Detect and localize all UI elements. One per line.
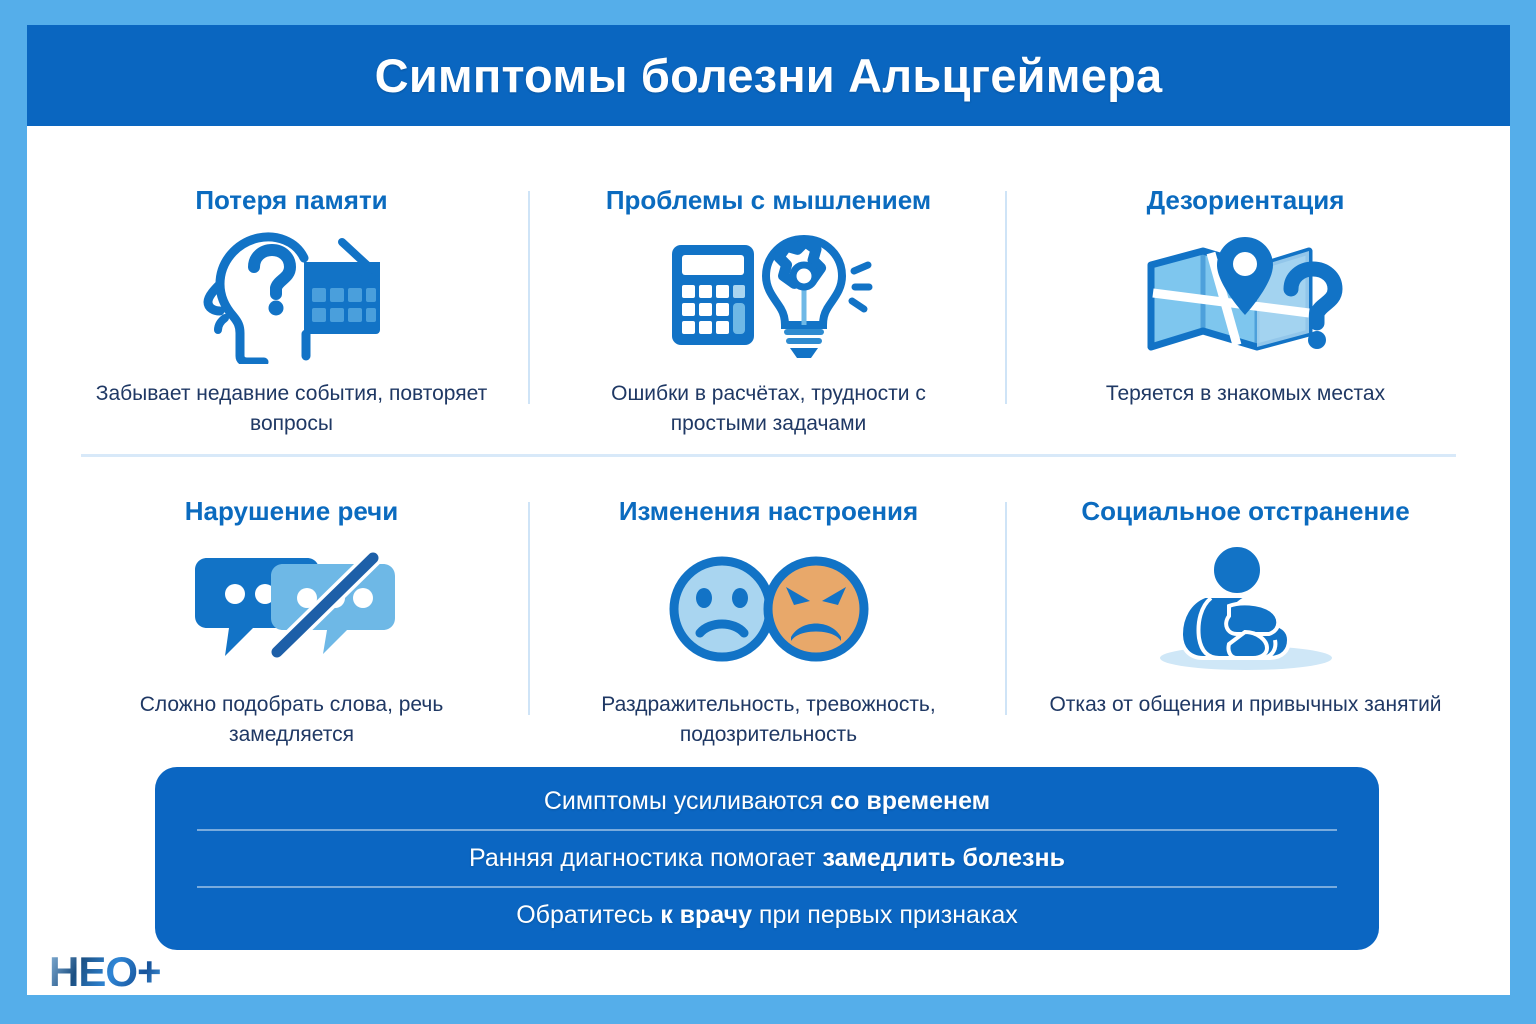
- symptom-card-social-withdrawal: Социальное отстранение Отказ от общения …: [1007, 454, 1484, 765]
- footer-line-1-bold: со временем: [830, 787, 990, 815]
- content-sheet: Симптомы болезни Альцгеймера Потеря памя…: [27, 25, 1510, 995]
- symptom-card-memory-loss: Потеря памяти: [53, 143, 530, 454]
- symptom-card-mood-changes: Изменения настроения Раздражительно: [530, 454, 1007, 765]
- card-description: Сложно подобрать слова, речь замедляется: [92, 690, 492, 751]
- symptom-grid: Потеря памяти: [53, 143, 1484, 765]
- card-description: Забывает недавние события, повторяет воп…: [92, 379, 492, 440]
- card-description: Отказ от общения и привычных занятий: [1049, 690, 1441, 720]
- page-title: Симптомы болезни Альцгеймера: [375, 48, 1163, 103]
- footer-line-3-plain: Обратитесь: [516, 901, 660, 929]
- card-description: Теряется в знакомых местах: [1106, 379, 1385, 409]
- footer-line-3-tail: при первых признаках: [752, 901, 1018, 929]
- infographic-poster: Симптомы болезни Альцгеймера Потеря памя…: [0, 0, 1536, 1024]
- map-pin-question-icon: [1141, 230, 1351, 365]
- header-bar: Симптомы болезни Альцгеймера: [27, 25, 1510, 126]
- footer-line-3-bold: к врачу: [660, 901, 752, 929]
- footer-line-1-plain: Симптомы усиливаются: [544, 787, 830, 815]
- card-title: Дезориентация: [1147, 185, 1345, 216]
- card-title: Изменения настроения: [619, 496, 918, 527]
- calculator-lightbulb-gear-icon: [664, 230, 874, 365]
- head-question-calendar-icon: [192, 230, 392, 365]
- key-message-panel: Симптомы усиливаются со временем Ранняя …: [155, 767, 1379, 950]
- card-title: Проблемы с мышлением: [606, 185, 931, 216]
- symptom-card-disorientation: Дезориентация Теряется: [1007, 143, 1484, 454]
- card-title: Нарушение речи: [185, 496, 399, 527]
- footer-line-2-bold: замедлить болезнь: [822, 844, 1065, 872]
- symptom-card-speech-impairment: Нарушение речи: [53, 454, 530, 765]
- sad-angry-faces-icon: [664, 541, 874, 676]
- speech-bubbles-slash-icon: [187, 541, 397, 676]
- footer-line-2-plain: Ранняя диагностика помогает: [469, 844, 822, 872]
- footer-line-3: Обратитесь к врачу при первых признаках: [197, 886, 1337, 943]
- card-description: Ошибки в расчётах, трудности с простыми …: [569, 379, 969, 440]
- sitting-person-icon: [1141, 541, 1351, 676]
- card-title: Социальное отстранение: [1081, 496, 1409, 527]
- symptom-card-thinking-problems: Проблемы с мышлением: [530, 143, 1007, 454]
- footer-line-2: Ранняя диагностика помогает замедлить бо…: [197, 829, 1337, 886]
- footer-line-1: Симптомы усиливаются со временем: [197, 774, 1337, 829]
- card-description: Раздражительность, тревожность, подозрит…: [569, 690, 969, 751]
- card-title: Потеря памяти: [195, 185, 387, 216]
- brand-logo: HEO+: [49, 948, 161, 996]
